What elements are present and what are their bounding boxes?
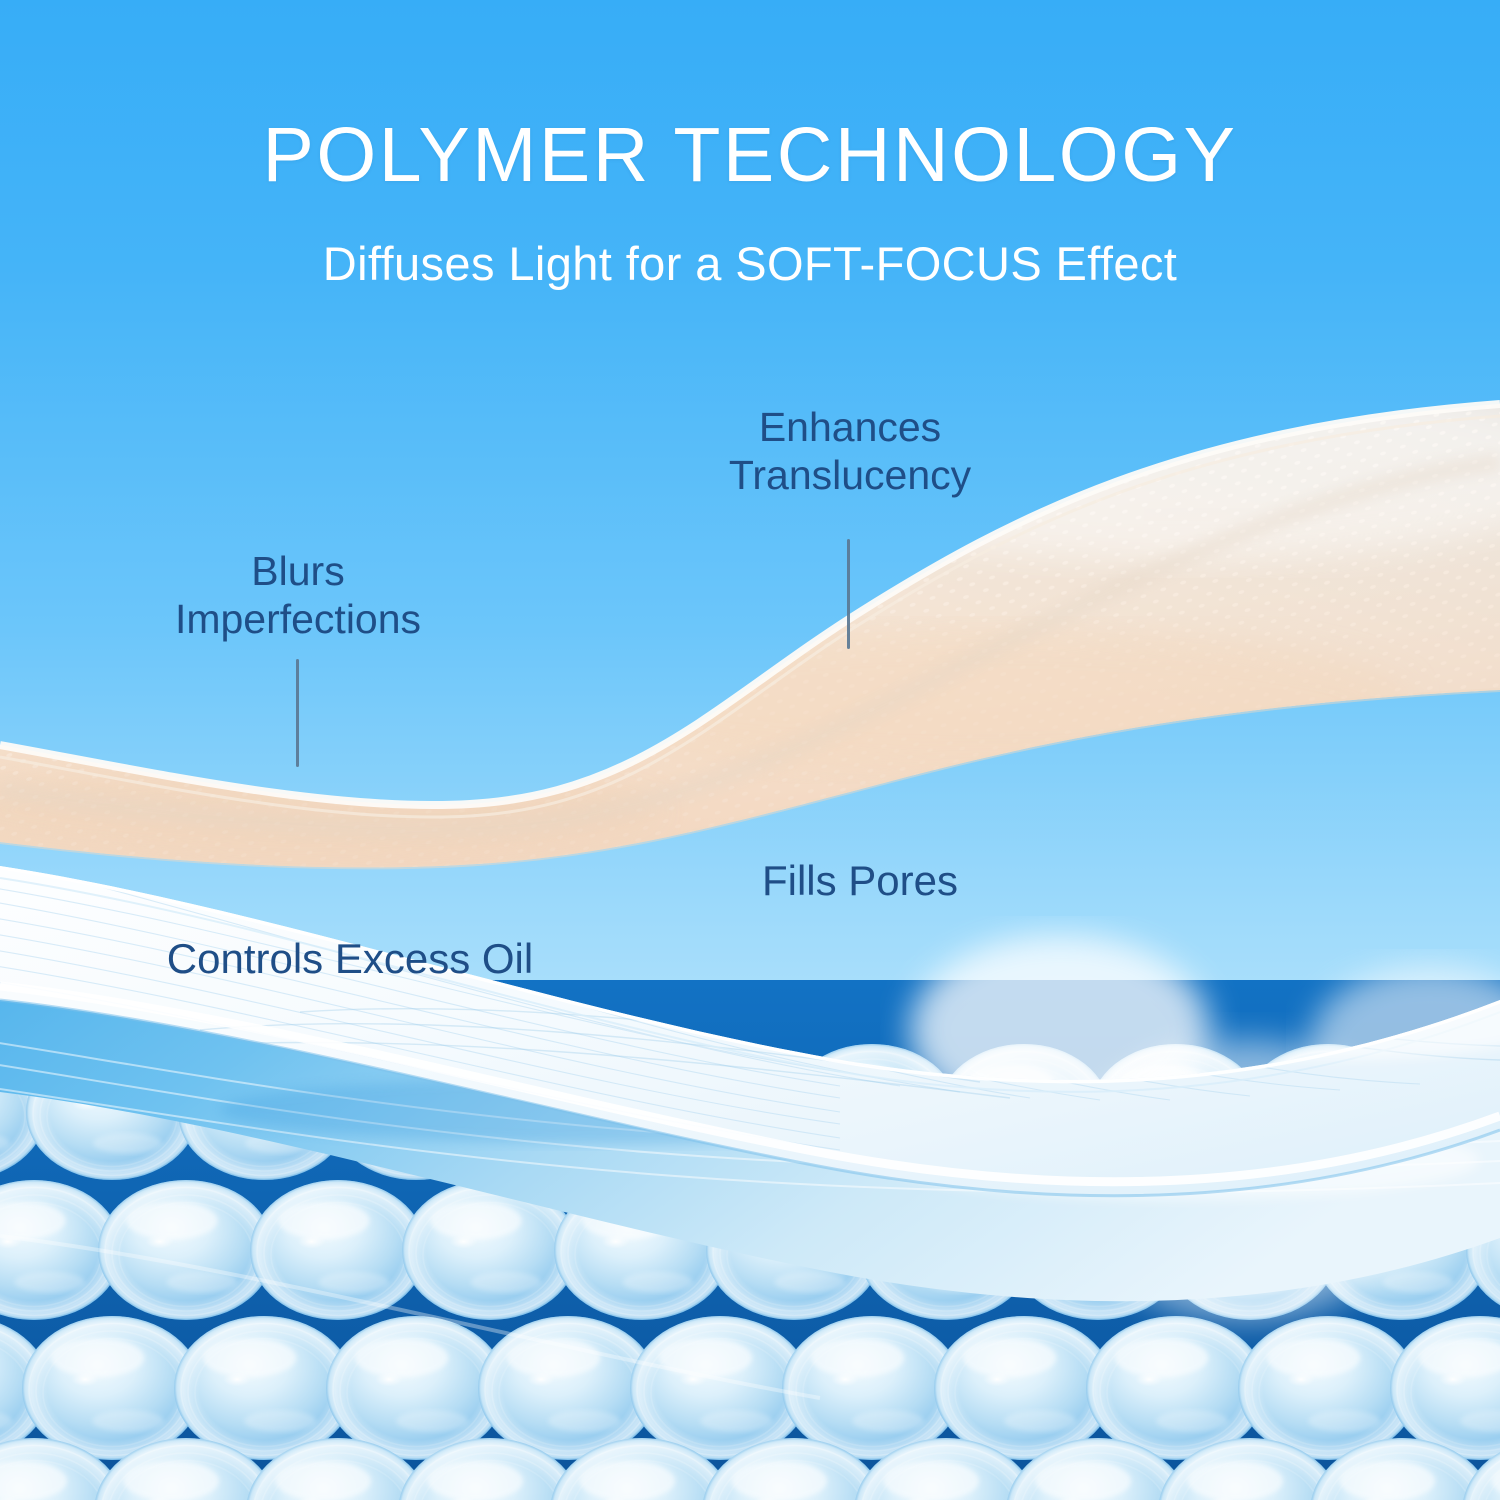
callout-fills-pores: Fills Pores bbox=[700, 857, 1020, 906]
leader-line-translucency bbox=[847, 539, 850, 649]
page-subtitle: Diffuses Light for a SOFT-FOCUS Effect bbox=[0, 236, 1500, 291]
text-layer: POLYMER TECHNOLOGY Diffuses Light for a … bbox=[0, 0, 1500, 1500]
page-title: POLYMER TECHNOLOGY bbox=[0, 115, 1500, 196]
leader-line-blurs bbox=[296, 659, 299, 767]
infographic-canvas: POLYMER TECHNOLOGY Diffuses Light for a … bbox=[0, 0, 1500, 1500]
callout-enhances-translucency: Enhances Translucency bbox=[610, 404, 1090, 499]
callout-blurs-imperfections: Blurs Imperfections bbox=[98, 548, 498, 643]
callout-controls-excess-oil: Controls Excess Oil bbox=[70, 935, 630, 984]
